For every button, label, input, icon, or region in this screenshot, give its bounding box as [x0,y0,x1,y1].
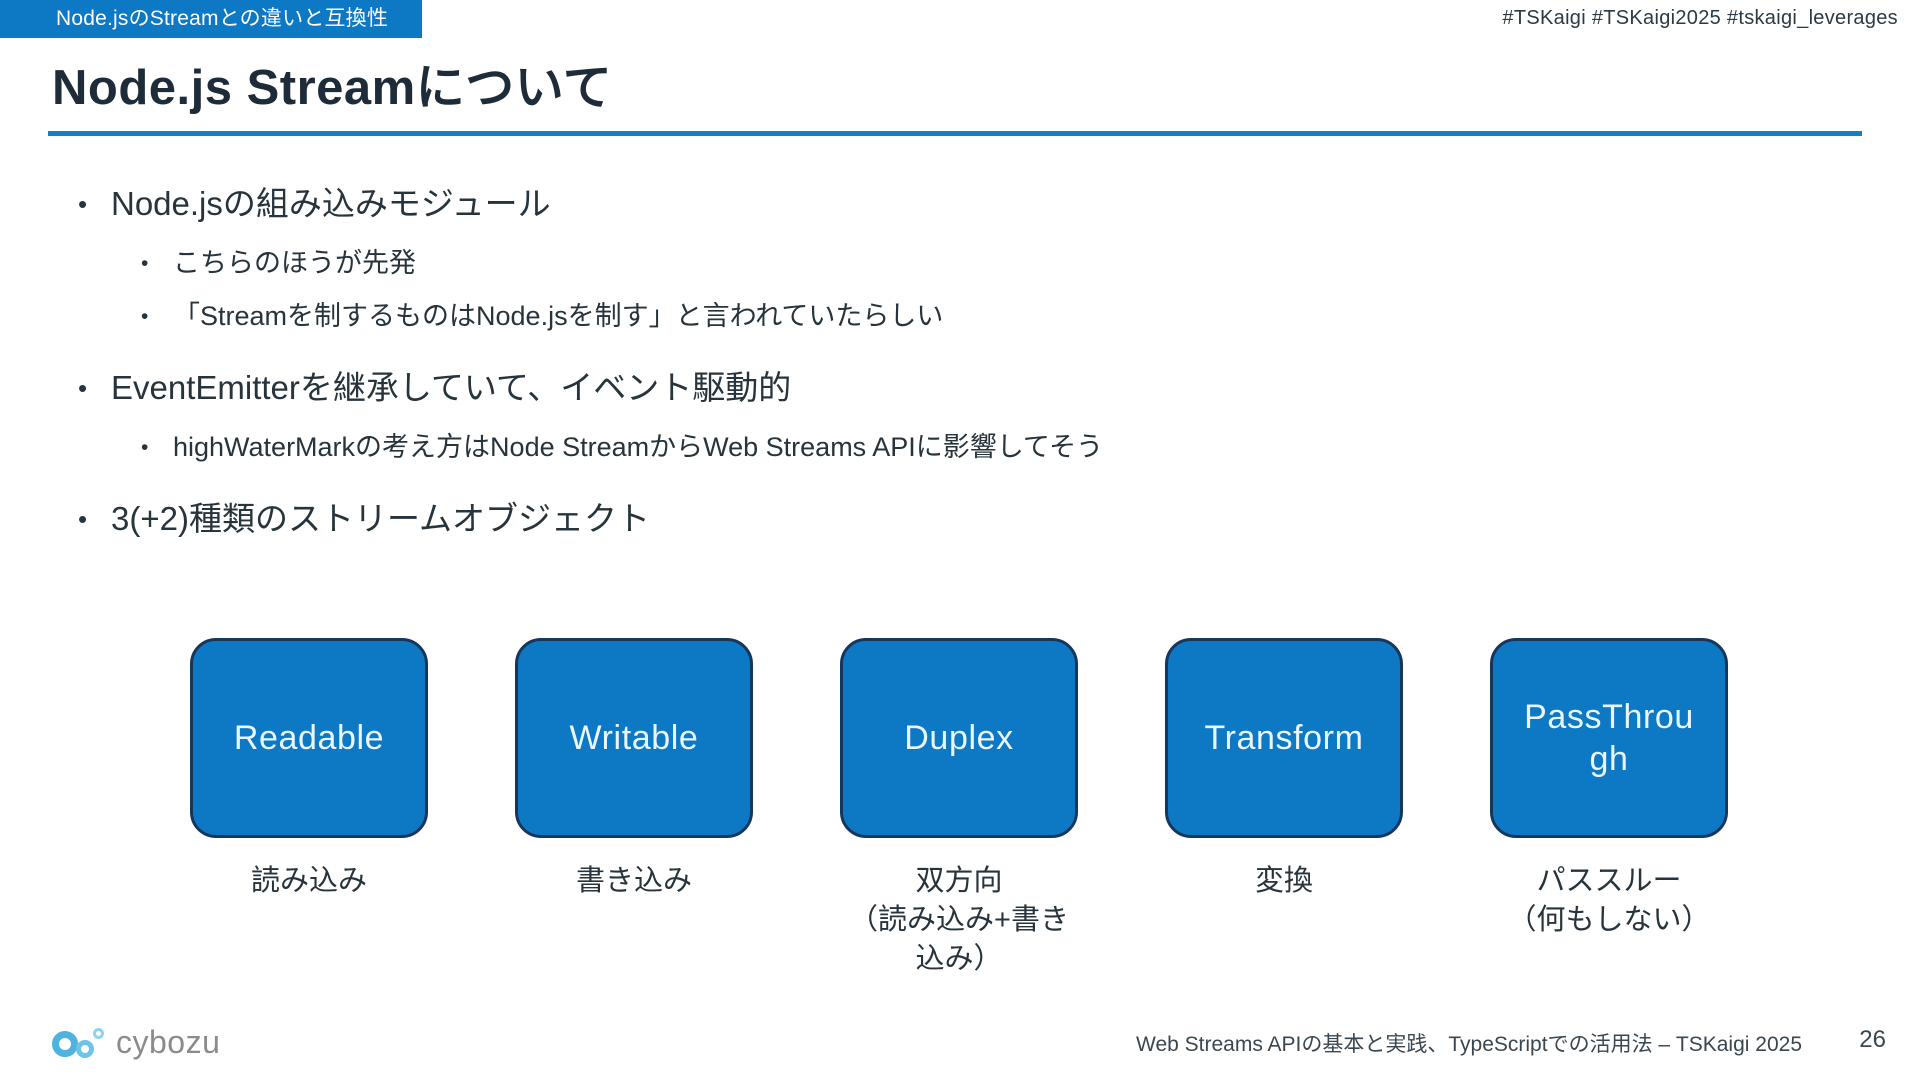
section-tab: Node.jsのStreamとの違いと互換性 [0,0,422,38]
bullet-item: • highWaterMarkの考え方はNode StreamからWeb Str… [141,432,1838,463]
bullet-marker: • [141,432,173,463]
bullet-list: • Node.jsの組み込みモジュール • こちらのほうが先発 • 「Strea… [78,186,1838,563]
page-title: Node.js Streamについて [52,48,612,119]
page-number: 26 [1859,1026,1886,1054]
stream-node-caption: パススルー （何もしない） [1490,862,1728,940]
hashtags: #TSKaigi #TSKaigi2025 #tskaigi_leverages [1502,7,1898,30]
stream-node-transform: Transform 変換 [1165,638,1403,901]
stream-node-label: Writable [524,717,744,760]
footer-title: Web Streams APIの基本と実践、TypeScriptでの活用法 – … [1136,1028,1802,1058]
stream-node-caption: 書き込み [515,862,753,901]
bullet-marker: • [141,248,173,279]
cybozu-logo-text: cybozu [116,1024,220,1061]
stream-node-readable: Readable 読み込み [190,638,428,901]
bullet-item: • Node.jsの組み込みモジュール [78,186,1838,222]
cybozu-logo: cybozu [52,1020,222,1064]
bullet-item: • こちらのほうが先発 [141,248,1838,279]
stream-node-box: Readable [190,638,428,838]
cybozu-logo-icon [52,1025,112,1059]
bullet-text: 3(+2)種類のストリームオブジェクト [111,501,650,537]
bullet-item: • 3(+2)種類のストリームオブジェクト [78,501,1838,537]
stream-node-box: Duplex [840,638,1078,838]
title-divider [48,131,1862,136]
bullet-text: 「Streamを制するものはNode.jsを制す」と言われていたらしい [173,301,943,332]
slide-canvas: Node.jsのStreamとの違いと互換性 #TSKaigi #TSKaigi… [0,0,1920,1080]
stream-node-passthrough: PassThrou gh パススルー （何もしない） [1490,638,1728,940]
bullet-text: EventEmitterを継承していて、イベント駆動的 [111,370,791,406]
bullet-text: こちらのほうが先発 [173,248,416,279]
stream-types-diagram: Readable 読み込み Writable 書き込み Duplex 双方向 （… [0,638,1920,968]
bullet-marker: • [141,301,173,332]
stream-node-label: Readable [199,717,419,760]
stream-node-label: Transform [1174,717,1394,760]
bullet-item: • 「Streamを制するものはNode.jsを制す」と言われていたらしい [141,301,1838,332]
stream-node-duplex: Duplex 双方向 （読み込み+書き込み） [840,638,1078,979]
bullet-item: • EventEmitterを継承していて、イベント駆動的 [78,370,1838,406]
bullet-text: Node.jsの組み込みモジュール [111,186,551,222]
stream-node-box: Transform [1165,638,1403,838]
stream-node-caption: 双方向 （読み込み+書き込み） [840,862,1078,979]
stream-node-label: PassThrou gh [1499,696,1719,781]
stream-node-writable: Writable 書き込み [515,638,753,901]
bullet-marker: • [78,501,111,537]
stream-node-label: Duplex [849,717,1069,760]
stream-node-box: PassThrou gh [1490,638,1728,838]
stream-node-caption: 変換 [1165,862,1403,901]
stream-node-caption: 読み込み [190,862,428,901]
bullet-marker: • [78,370,111,406]
stream-node-box: Writable [515,638,753,838]
bullet-text: highWaterMarkの考え方はNode StreamからWeb Strea… [173,432,1103,463]
bullet-marker: • [78,186,111,222]
